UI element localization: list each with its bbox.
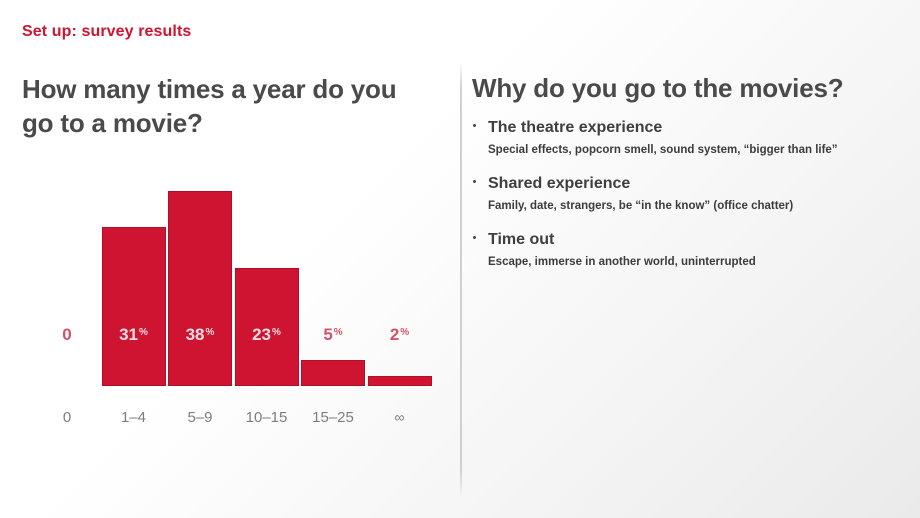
slide-canvas: Set up: survey results How many times a …: [0, 0, 920, 518]
reason-item: Shared experienceFamily, date, strangers…: [472, 174, 916, 214]
bar: [102, 227, 166, 386]
percent-sign: %: [334, 327, 343, 338]
bar-value-number: 5: [323, 325, 332, 344]
percent-sign: %: [139, 327, 148, 338]
bar-column: 2%∞: [368, 0, 432, 518]
bar-column: 31%1–4: [102, 0, 166, 518]
bar: [368, 376, 432, 386]
reason-detail: Escape, immerse in another world, uninte…: [488, 255, 916, 270]
bar: [168, 191, 232, 386]
bar-category-label: ∞: [368, 409, 432, 425]
bar-category-label: 5–9: [168, 409, 232, 426]
reason-heading: Time out: [488, 230, 916, 250]
bullet-dot-icon: [473, 180, 476, 183]
bar-chart: 0031%1–438%5–923%10–155%15–252%∞: [0, 0, 460, 518]
reason-detail: Special effects, popcorn smell, sound sy…: [488, 143, 916, 158]
bar-column: 23%10–15: [235, 0, 299, 518]
bar-category-label: 1–4: [102, 409, 166, 426]
bar-value-number: 23: [252, 325, 271, 344]
bullet-dot-icon: [473, 124, 476, 127]
bar-column: 00: [35, 0, 99, 518]
bar-value-number: 2: [390, 325, 399, 344]
reason-heading: The theatre experience: [488, 118, 916, 138]
bar-column: 38%5–9: [168, 0, 232, 518]
bar: [301, 360, 365, 386]
bar-value-number: 0: [62, 325, 71, 344]
bar-value-label: 0: [35, 326, 99, 343]
left-panel: How many times a year do you go to a mov…: [0, 0, 460, 518]
bar-category-label: 0: [35, 409, 99, 426]
bar-value-label: 23%: [235, 326, 299, 343]
right-panel-title: Why do you go to the movies?: [472, 73, 843, 104]
bullet-dot-icon: [473, 236, 476, 239]
bar-value-label: 5%: [301, 326, 365, 343]
percent-sign: %: [400, 327, 409, 338]
bar-value-label: 2%: [368, 326, 432, 343]
percent-sign: %: [272, 327, 281, 338]
right-panel: Why do you go to the movies? The theatre…: [460, 0, 920, 518]
reason-item: The theatre experienceSpecial effects, p…: [472, 118, 916, 158]
bar-value-number: 31: [119, 325, 138, 344]
percent-sign: %: [206, 327, 215, 338]
reasons-list: The theatre experienceSpecial effects, p…: [472, 118, 916, 286]
reason-heading: Shared experience: [488, 174, 916, 194]
reason-detail: Family, date, strangers, be “in the know…: [488, 199, 916, 214]
bar-value-label: 38%: [168, 326, 232, 343]
bar-value-label: 31%: [102, 326, 166, 343]
bar-category-label: 15–25: [301, 409, 365, 426]
reason-item: Time outEscape, immerse in another world…: [472, 230, 916, 270]
bar-value-number: 38: [186, 325, 205, 344]
bar-category-label: 10–15: [235, 409, 299, 426]
bar-column: 5%15–25: [301, 0, 365, 518]
